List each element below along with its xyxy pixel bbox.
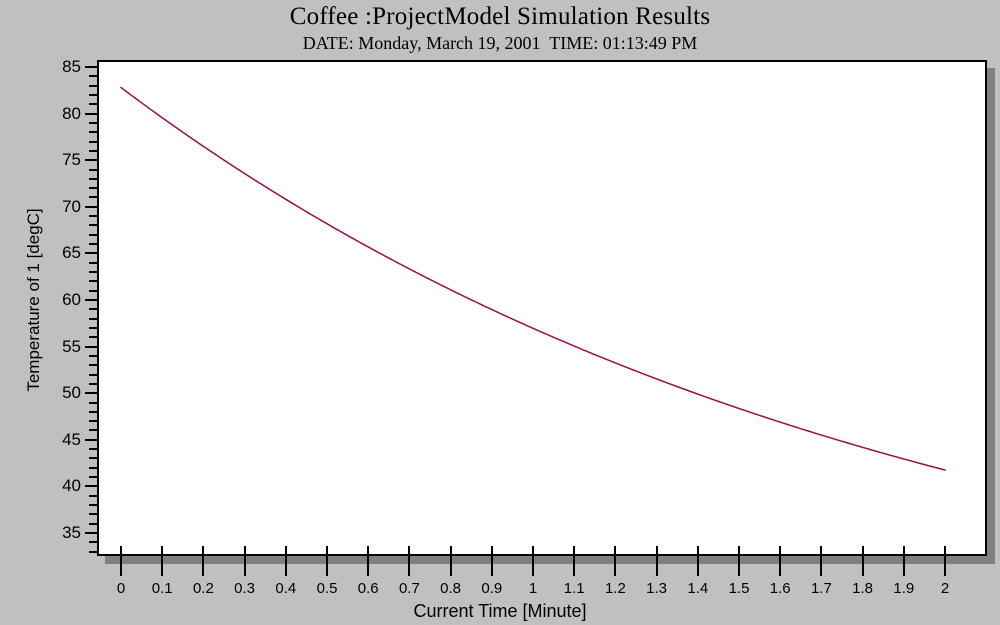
- y-axis-tick-major: [85, 252, 97, 254]
- y-axis-tick-minor: [89, 271, 97, 273]
- x-axis-tick: [903, 546, 905, 576]
- y-axis-tick-minor: [89, 374, 97, 376]
- y-axis-tick-minor: [89, 94, 97, 96]
- y-axis-tick-minor: [89, 383, 97, 385]
- y-axis-tick-minor: [89, 364, 97, 366]
- x-axis-tick: [862, 546, 864, 576]
- y-axis-tick-label: 75: [62, 151, 81, 168]
- y-axis-tick-minor: [89, 75, 97, 77]
- y-axis-tick-minor: [89, 187, 97, 189]
- chart-window: Coffee :ProjectModel Simulation Results …: [0, 0, 1000, 625]
- x-axis-tick: [450, 546, 452, 576]
- y-axis-tick-minor: [89, 224, 97, 226]
- x-axis-tick: [944, 546, 946, 576]
- y-axis-tick-major: [85, 485, 97, 487]
- x-axis-tick: [161, 546, 163, 576]
- page-subtitle: DATE: Monday, March 19, 2001 TIME: 01:13…: [0, 32, 1000, 54]
- series-line-temperature: [121, 88, 945, 471]
- y-axis-tick-minor: [89, 234, 97, 236]
- y-axis-tick-major: [85, 299, 97, 301]
- y-axis-tick-minor: [89, 215, 97, 217]
- y-axis-tick-label: 85: [62, 58, 81, 75]
- y-axis-tick-minor: [89, 336, 97, 338]
- y-axis-tick-minor: [89, 280, 97, 282]
- y-axis-tick-minor: [89, 429, 97, 431]
- x-axis-tick: [738, 546, 740, 576]
- y-axis-tick-minor: [89, 178, 97, 180]
- y-axis-tick-major: [85, 439, 97, 441]
- y-axis-tick-major: [85, 113, 97, 115]
- y-axis-tick-minor: [89, 318, 97, 320]
- y-axis-tick-major: [85, 206, 97, 208]
- y-axis-tick-major: [85, 159, 97, 161]
- x-axis-tick: [491, 546, 493, 576]
- y-axis-tick-label: 55: [62, 338, 81, 355]
- x-axis-tick: [573, 546, 575, 576]
- x-axis-tick: [244, 546, 246, 576]
- y-axis-tick-minor: [89, 150, 97, 152]
- y-axis-tick-label: 50: [62, 384, 81, 401]
- y-axis-tick-minor: [89, 402, 97, 404]
- y-axis-tick-minor: [89, 141, 97, 143]
- y-axis-tick-minor: [89, 85, 97, 87]
- y-axis-tick-minor: [89, 495, 97, 497]
- x-axis-tick: [202, 546, 204, 576]
- plot-area: [97, 60, 987, 556]
- y-axis-tick-minor: [89, 262, 97, 264]
- y-axis-tick-major: [85, 346, 97, 348]
- y-axis-tick-major: [85, 392, 97, 394]
- title-block: Coffee :ProjectModel Simulation Results …: [0, 0, 1000, 54]
- y-axis-tick-minor: [89, 513, 97, 515]
- x-axis-tick-label: 2: [915, 581, 975, 596]
- y-axis-tick-label: 70: [62, 198, 81, 215]
- y-axis-tick-minor: [89, 290, 97, 292]
- plot-inner: [99, 62, 985, 554]
- y-axis-tick-minor: [89, 327, 97, 329]
- x-axis-tick: [408, 546, 410, 576]
- x-axis-title: Current Time [Minute]: [0, 601, 1000, 622]
- y-axis-tick-minor: [89, 308, 97, 310]
- y-axis-tick-minor: [89, 476, 97, 478]
- y-axis-tick-minor: [89, 131, 97, 133]
- x-axis-tick: [614, 546, 616, 576]
- x-axis-tick: [779, 546, 781, 576]
- y-axis-tick-minor: [89, 551, 97, 553]
- x-axis-tick: [532, 546, 534, 576]
- y-axis-tick-label: 80: [62, 105, 81, 122]
- x-axis-tick: [326, 546, 328, 576]
- y-axis-tick-minor: [89, 103, 97, 105]
- y-axis-tick-minor: [89, 448, 97, 450]
- y-axis-tick-label: 60: [62, 291, 81, 308]
- y-axis-tick-label: 35: [62, 524, 81, 541]
- x-axis-tick: [697, 546, 699, 576]
- y-axis-tick-minor: [89, 355, 97, 357]
- y-axis-tick-minor: [89, 457, 97, 459]
- y-axis-title: Temperature of 1 [degC]: [24, 170, 44, 430]
- x-axis-tick: [656, 546, 658, 576]
- y-axis-tick-minor: [89, 467, 97, 469]
- temperature-curve: [99, 62, 985, 554]
- y-axis-tick-label: 65: [62, 244, 81, 261]
- y-axis-tick-minor: [89, 243, 97, 245]
- y-axis-tick-minor: [89, 523, 97, 525]
- page-title: Coffee :ProjectModel Simulation Results: [0, 0, 1000, 32]
- x-axis-tick: [820, 546, 822, 576]
- y-axis-tick-minor: [89, 541, 97, 543]
- x-axis-tick: [120, 546, 122, 576]
- y-axis-tick-major: [85, 66, 97, 68]
- y-axis-tick-minor: [89, 504, 97, 506]
- y-axis-tick-label: 45: [62, 431, 81, 448]
- y-axis-tick-minor: [89, 420, 97, 422]
- y-axis-tick-minor: [89, 122, 97, 124]
- y-axis-tick-minor: [89, 169, 97, 171]
- x-axis-tick: [367, 546, 369, 576]
- y-axis-tick-minor: [89, 411, 97, 413]
- y-axis-tick-minor: [89, 196, 97, 198]
- y-axis-tick-label: 40: [62, 477, 81, 494]
- y-axis-tick-major: [85, 532, 97, 534]
- x-axis-tick: [285, 546, 287, 576]
